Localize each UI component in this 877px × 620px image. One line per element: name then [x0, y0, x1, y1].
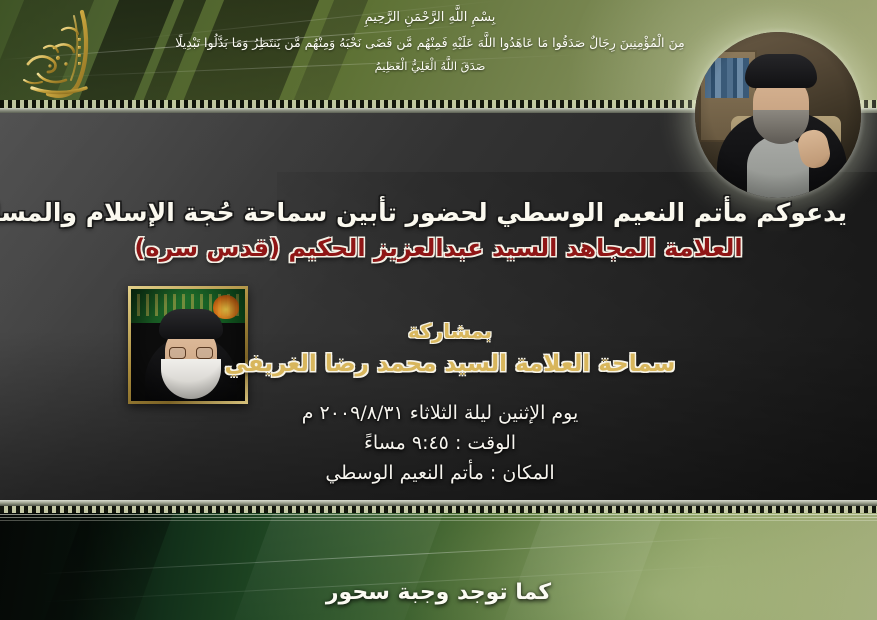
participation-label: بمشاركة — [150, 316, 750, 346]
participation-speaker-name: سماحة العلامة السيد محمد رضا الغريفي — [150, 346, 750, 382]
deceased-portrait-circle — [695, 32, 861, 198]
event-poster: بِسْمِ اللَّهِ الرَّحْمَنِ الرَّحِيمِ مِ… — [0, 0, 877, 620]
bismillah-text: بِسْمِ اللَّهِ الرَّحْمَنِ الرَّحِيمِ — [150, 6, 710, 30]
quran-verse-text: مِنَ الْمُؤْمِنِينَ رِجَالٌ صَدَقُوا مَا… — [150, 30, 710, 55]
headline-block: يدعوكم مأتم النعيم الوسطي لحضور تأبين سم… — [30, 196, 847, 266]
event-place: المكان : مأتم النعيم الوسطي — [180, 458, 700, 488]
footer-hairlines — [0, 514, 877, 522]
participation-block: بمشاركة سماحة العلامة السيد محمد رضا الغ… — [150, 316, 750, 382]
quran-attribution-text: صَدَقَ اللَّهُ الْعَلِيُّ الْعَظِيمُ — [150, 55, 710, 78]
event-time: الوقت : ٩:٤٥ مساءً — [180, 428, 700, 458]
headline-line-2: العلامة المجاهد السيد عبدالعزيز الحكيم (… — [30, 230, 847, 266]
quran-verse-block: بِسْمِ اللَّهِ الرَّحْمَنِ الرَّحِيمِ مِ… — [150, 6, 710, 78]
portrait-vignette — [695, 32, 861, 198]
event-details-block: يوم الإثنين ليلة الثلاثاء ٢٠٠٩/٨/٣١ م ال… — [180, 398, 700, 488]
bottom-dotted-divider — [0, 506, 877, 513]
headline-line-1: يدعوكم مأتم النعيم الوسطي لحضور تأبين سم… — [30, 196, 847, 230]
event-date: يوم الإثنين ليلة الثلاثاء ٢٠٠٩/٨/٣١ م — [180, 398, 700, 428]
footer-note: كما توجد وجبة سحور — [0, 580, 877, 605]
calligraphy-logo-icon — [8, 4, 116, 104]
